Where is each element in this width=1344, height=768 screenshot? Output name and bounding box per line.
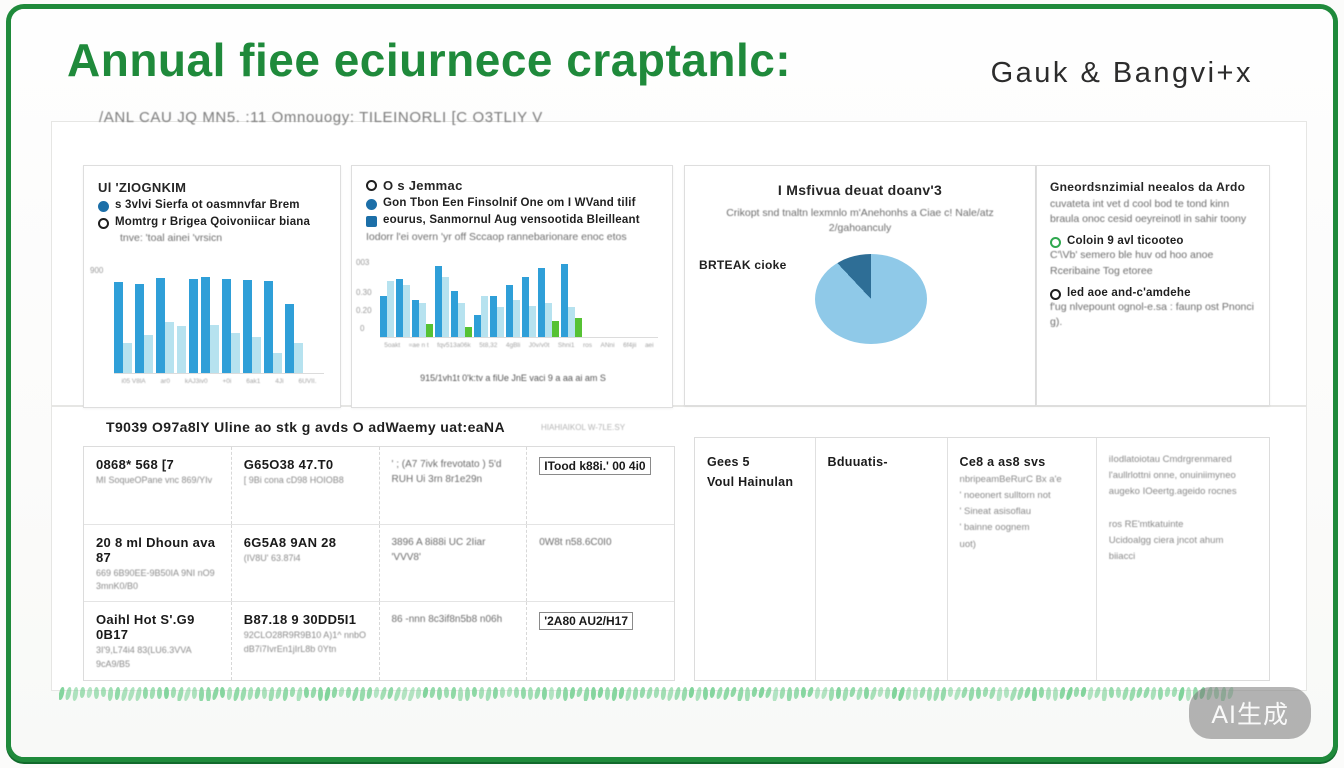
bar (474, 315, 481, 338)
bar-group (380, 262, 394, 337)
deco-mark (1093, 687, 1101, 698)
bar-group (189, 274, 198, 373)
cell-secondary-text: [ 9Bi cona cD98 HOIOB8 (244, 474, 367, 488)
cell-secondary-text: 669 6B90EE-9B50IA 9NI nO9 3mnK0/B0 (96, 567, 219, 594)
table-row: Oaihl Hot S'.G9 0B173I'9,L74i4 83(LU6.3V… (84, 602, 674, 680)
card-b-title-row: O s Jemmac (366, 178, 658, 193)
bar-group (243, 274, 261, 373)
deco-mark (422, 687, 429, 698)
deco-mark (101, 687, 107, 697)
bar (273, 353, 282, 373)
bar (435, 266, 442, 337)
table-cell: 3896 A 8i88i UC 2Iiar 'VVV8' (380, 525, 528, 602)
deco-mark (274, 687, 282, 699)
deco-mark (134, 687, 142, 701)
card-a-bullet-2-label: Momtrg r Brigea Qoivoniicar biana (115, 216, 310, 228)
x-tick-label: 4Ji (275, 378, 283, 385)
bar (156, 278, 165, 373)
deco-mark (331, 687, 338, 698)
card-d-bullet-1-body: C'\Vb' semero ble huv od hoo anoe Rcerib… (1050, 248, 1256, 278)
card-a-note: tnve: 'toal ainei 'vrsicn (120, 231, 326, 246)
bar (412, 300, 419, 338)
bar-group (490, 262, 504, 337)
cell-primary-value: B87.18 9 30DD5I1 (244, 612, 367, 627)
deco-mark (947, 687, 953, 697)
bar-group (522, 262, 536, 337)
bar (380, 296, 387, 337)
decorative-strip (59, 687, 1291, 701)
ai-watermark-badge: AI生成 (1189, 687, 1311, 739)
bar (490, 296, 497, 337)
deco-mark (79, 687, 86, 698)
chart2-ytick-2: 0.20 (356, 306, 372, 315)
card-pie-chart: I Msfivua deuat doanv'3 Crikopt snd tnal… (684, 165, 1036, 406)
x-tick-label: +0i (223, 378, 232, 385)
bar (552, 321, 559, 338)
bar (189, 279, 198, 373)
bar (513, 300, 520, 338)
deco-mark (373, 687, 380, 698)
card-b-bullet-2: eourus, Sanmornul Aug vensootida Bleille… (366, 214, 658, 227)
deco-mark (597, 687, 604, 698)
deco-mark (1045, 687, 1051, 700)
table-cell: '2A80 AU2/H17 (527, 602, 674, 680)
chart2-ytick-0: 003 (356, 258, 369, 267)
table-cell: Oaihl Hot S'.G9 0B173I'9,L74i4 83(LU6.3V… (84, 602, 232, 680)
deco-mark (338, 687, 345, 697)
bar-group (506, 262, 520, 337)
deco-mark (1116, 687, 1121, 698)
deco-mark (1053, 687, 1059, 701)
panel-column-title: Ce8 a as8 svs (960, 452, 1084, 472)
bar (522, 277, 529, 337)
panel-line: ' bainne oognem (960, 520, 1084, 536)
deco-mark (688, 687, 695, 698)
deco-mark (164, 687, 170, 699)
deco-mark (988, 687, 996, 699)
panel-line: biiacci (1109, 549, 1257, 565)
deco-mark (1150, 687, 1157, 700)
deco-mark (1101, 687, 1108, 701)
x-tick-label: 6ak1 (246, 378, 260, 385)
panel-column-title: Bduuatis- (828, 452, 935, 472)
chart2-ytick-3: 0 (360, 324, 364, 333)
deco-mark (541, 687, 547, 700)
page-subtitle: /ANL CAU JQ MN5. :11 Omnouogy: TILEINORL… (99, 109, 543, 126)
card-a-bullet-1-label: s 3vlvi Sierfa ot oasmnvfar Brem (115, 199, 300, 211)
bar (210, 325, 219, 373)
bar (222, 279, 231, 373)
card-a-title: Ul 'ZIOGNKIM (98, 180, 326, 195)
deco-mark (345, 687, 352, 698)
bar (426, 324, 433, 338)
deco-mark (1087, 687, 1095, 700)
bar (177, 326, 186, 373)
bar (568, 307, 575, 337)
deco-mark (575, 687, 583, 697)
deco-mark (828, 687, 835, 701)
bar-chart-2: 003 0.30 0.20 0 5oakt=ae n tfqv513a06k5t… (352, 258, 674, 408)
deco-mark (415, 687, 422, 699)
deco-mark (884, 687, 891, 699)
frame-inner: Annual fiee eciurnece craptanlc: Gauk & … (11, 9, 1333, 757)
square-icon (366, 216, 377, 227)
data-table: 0868* 568 [7MI SoqueOPane vnc 869/YIvG65… (83, 446, 675, 681)
deco-mark (569, 687, 576, 699)
deco-mark (618, 687, 625, 699)
deco-mark (492, 687, 498, 699)
deco-mark (437, 687, 443, 700)
deco-mark (744, 687, 750, 701)
deco-mark (472, 687, 478, 697)
x-tick-label: aei (645, 342, 654, 349)
deco-mark (528, 687, 534, 700)
deco-mark (820, 687, 828, 699)
deco-mark (1080, 687, 1087, 697)
cell-secondary-text: 3I'9,L74i4 83(LU6.3VVA 9cA9/B5 (96, 644, 219, 671)
panel-line: nbripeamBeRurC Bx a'e (960, 472, 1084, 488)
panel-line: uot) (960, 537, 1084, 553)
deco-mark (183, 687, 192, 701)
deco-mark (751, 687, 758, 697)
card-a-bullet-1: s 3vlvi Sierfa ot oasmnvfar Brem (98, 199, 326, 212)
deco-mark (611, 687, 618, 701)
bar-group (285, 274, 303, 373)
deco-mark (548, 687, 554, 700)
table-cell: ' ; (A7 7ivk frevotato ) 5'd RUH Ui 3rn … (380, 447, 528, 524)
bar-group (264, 274, 282, 373)
card-d-bullet-2-body: f'ug nlvepount ognol-e.sa : faunp ost Pn… (1050, 300, 1256, 330)
deco-mark (736, 687, 744, 701)
deco-mark (863, 687, 869, 699)
card-c-title: I Msfivua deuat doanv'3 (701, 182, 1019, 198)
deco-mark (772, 687, 780, 701)
pie-legend-label: BRTEAK cioke (699, 258, 787, 272)
deco-mark (1142, 687, 1151, 698)
deco-mark (940, 687, 948, 701)
table-row: 0868* 568 [7MI SoqueOPane vnc 869/YIvG65… (84, 447, 674, 525)
bar (252, 337, 261, 373)
panel-column: Ce8 a as8 svsnbripeamBeRurC Bx a'e' noeo… (948, 438, 1097, 680)
green-frame: Annual fiee eciurnece craptanlc: Gauk & … (6, 4, 1338, 762)
deco-mark (521, 687, 527, 699)
panel-column-title: Gees 5 Voul Hainulan (707, 452, 803, 492)
bar (396, 279, 403, 338)
x-tick-label: ANni (601, 342, 615, 349)
deco-mark (877, 687, 884, 697)
deco-mark (681, 687, 688, 701)
table-cell: B87.18 9 30DD5I192CLO28R9R9B10 A)1^ nnbO… (232, 602, 380, 680)
circle-icon (1050, 237, 1061, 248)
table-row: 20 8 ml Dhoun ava 87669 6B90EE-9B50IA 9N… (84, 525, 674, 603)
bar (285, 304, 294, 373)
cell-primary-value: Oaihl Hot S'.G9 0B17 (96, 612, 219, 642)
bar (497, 307, 504, 337)
table-cell: 6G5A8 9AN 28(IV8U' 63.87i4 (232, 525, 380, 602)
deco-mark (1164, 687, 1171, 697)
deco-mark (254, 687, 262, 699)
bar (442, 277, 449, 337)
cell-secondary-text: (IV8U' 63.87i4 (244, 552, 367, 566)
deco-mark (366, 687, 373, 699)
deco-mark (653, 687, 660, 698)
deco-mark (694, 687, 702, 701)
table-heading-right: HIAHIAIKOL W-7LE.SY (541, 423, 1323, 432)
bar (419, 303, 426, 337)
panel-line: Ucidoalgg ciera jncot ahum (1109, 533, 1257, 549)
card-d-bullet-1: Coloin 9 avl ticooteo (1050, 235, 1256, 248)
card-b-bullet-1: Gon Tbon Een Finsolnif One om I WVand ti… (366, 197, 658, 210)
deco-mark (198, 687, 204, 701)
deco-mark (1023, 687, 1031, 698)
bar-group (156, 274, 174, 373)
bar (243, 280, 252, 373)
x-tick-label: kAJ3iv0 (185, 378, 208, 385)
bar (451, 291, 458, 338)
x-tick-label: 4gBli (506, 342, 520, 349)
deco-mark (86, 687, 93, 698)
card-b-bullet-2-label: eourus, Sanmornul Aug vensootida Bleille… (383, 214, 640, 226)
deco-mark (645, 687, 653, 699)
card-b-title: O s Jemmac (383, 178, 463, 193)
panel-column: Bduuatis- (816, 438, 948, 680)
deco-mark (800, 687, 806, 698)
chart2-ytick-1: 0.30 (356, 288, 372, 297)
deco-mark (268, 687, 275, 701)
bar (231, 333, 240, 373)
deco-mark (624, 687, 632, 701)
chart1-xticks: i05 V8lAar0kAJ3iv0+0i6ak14Ji6UVII. (114, 378, 324, 385)
deco-mark (968, 687, 976, 701)
deco-mark (506, 687, 513, 697)
bar (545, 303, 552, 337)
table-cell: G65O38 47.T0[ 9Bi cona cD98 HOIOB8 (232, 447, 380, 524)
deco-mark (976, 687, 982, 699)
deco-mark (891, 687, 898, 699)
cell-secondary-text: MI SoqueOPane vnc 869/YIv (96, 474, 219, 488)
bar-group (396, 262, 410, 337)
chart1-ytick-0: 900 (90, 266, 103, 275)
boxed-value: ITood k88i.' 00 4i0 (539, 457, 650, 475)
deco-mark (806, 687, 814, 697)
x-tick-label: 5t8,32 (479, 342, 497, 349)
circle-icon (1050, 289, 1061, 300)
card-bar-chart-2: O s Jemmac Gon Tbon Een Finsolnif One om… (351, 165, 673, 408)
deco-mark (1171, 687, 1178, 697)
x-tick-label: ar0 (161, 378, 170, 385)
bar-group (114, 274, 132, 373)
deco-mark (919, 687, 927, 698)
x-tick-label: 5oakt (384, 342, 400, 349)
deco-mark (478, 687, 485, 699)
chart1-plot (114, 274, 324, 374)
bar-group (201, 274, 219, 373)
bar (123, 343, 132, 373)
bar (465, 327, 472, 338)
deco-mark (855, 687, 863, 700)
chart2-caption: 915/1vh1t 0'k:tv a fiUe JnE vaci 9 a aa … (352, 373, 674, 383)
deco-mark (1158, 687, 1164, 700)
x-tick-label: i05 V8lA (121, 378, 145, 385)
table-cell: ITood k88i.' 00 4i0 (527, 447, 674, 524)
deco-mark (639, 687, 646, 698)
card-d-title: Gneordsnzimial neealos da Ardo (1050, 180, 1256, 194)
deco-mark (1073, 687, 1080, 697)
deco-mark (240, 687, 248, 701)
deco-mark (1031, 687, 1037, 701)
deco-mark (660, 687, 667, 700)
card-notes: Gneordsnzimial neealos da Ardo cuvateta … (1036, 165, 1270, 406)
deco-mark (779, 687, 786, 699)
circle-icon (98, 218, 109, 229)
bar (506, 285, 513, 338)
deco-mark (926, 687, 932, 701)
boxed-value: '2A80 AU2/H17 (539, 612, 633, 630)
chart2-xticks: 5oakt=ae n tfqv513a06k5t8,324gBliJ0v/v0t… (380, 342, 658, 349)
cell-primary-value: 20 8 ml Dhoun ava 87 (96, 535, 219, 565)
bar (403, 285, 410, 338)
panel-line: iIodlatoiotau Cmdrgrenmared (1109, 452, 1257, 468)
deco-mark (849, 687, 857, 697)
table-cell: 86 -nnn 8c3if8n5b8 n06h (380, 602, 528, 680)
panel-column: Gees 5 Voul Hainulan (695, 438, 816, 680)
deco-mark (1004, 687, 1010, 698)
deco-mark (465, 687, 471, 701)
panel-line: ' Sineat asisoflau (960, 504, 1084, 520)
panel-line: ros RE'mtkatuinte (1109, 517, 1257, 533)
deco-mark (960, 687, 968, 698)
deco-mark (157, 687, 163, 699)
bar (294, 343, 303, 373)
deco-mark (1039, 687, 1045, 698)
card-d-bullet-1-label: Coloin 9 avl ticooteo (1067, 235, 1184, 247)
x-tick-label: fqv513a06k (437, 342, 471, 349)
cell-text: 0W8t n58.6C0I0 (539, 535, 662, 550)
filled-circle-icon (366, 199, 377, 210)
deco-mark (94, 687, 100, 699)
deco-mark (932, 687, 940, 701)
deco-mark (905, 687, 912, 700)
deco-mark (206, 687, 212, 701)
chart2-plot (380, 262, 658, 338)
deco-mark (912, 687, 918, 700)
deco-mark (143, 687, 149, 699)
bar (561, 264, 568, 337)
bar-group (412, 262, 433, 337)
deco-mark (282, 687, 289, 701)
x-tick-label: =ae n t (409, 342, 429, 349)
bar-group (222, 274, 240, 373)
bar-group (435, 262, 449, 337)
cell-secondary-text: 92CLO28R9R9B10 A)1^ nnbO dB7i7IvrEn1jIrL… (244, 629, 367, 656)
card-d-body: cuvateta int vet d cool bod te tond kinn… (1050, 197, 1256, 227)
bar (387, 281, 394, 337)
cell-text: 86 -nnn 8c3if8n5b8 n06h (392, 612, 515, 627)
deco-mark (457, 687, 463, 701)
bar-group (538, 262, 559, 337)
deco-mark (429, 687, 436, 698)
cell-text: ' ; (A7 7ivk frevotato ) 5'd RUH Ui 3rn … (392, 457, 515, 487)
cell-primary-value: 0868* 568 [7 (96, 457, 219, 472)
deco-mark (583, 687, 590, 701)
deco-mark (835, 687, 841, 699)
card-b-note: Iodorr l'ei overn 'yr off Sccaop ranneba… (366, 230, 658, 245)
bar-group (177, 274, 186, 373)
deco-mark (304, 687, 309, 698)
bar (458, 303, 465, 337)
deco-mark (591, 687, 597, 700)
table-cell: 0868* 568 [7MI SoqueOPane vnc 869/YIv (84, 447, 232, 524)
deco-mark (318, 687, 324, 701)
x-tick-label: Shni1 (558, 342, 575, 349)
x-tick-label: ros (583, 342, 592, 349)
deco-mark (107, 687, 114, 701)
panel-line: l'aullrlottni onne, onuiniimyneo (1109, 468, 1257, 484)
card-c-subtitle: Crikopt snd tnaltn lexmnlo m'Anehonhs a … (701, 206, 1019, 236)
table-heading: T9039 O97a8lY Uline ao stk g avds O adWa… (106, 419, 505, 435)
card-d-bullet-2-label: led aoe and-c'amdehe (1067, 287, 1191, 299)
bar-chart-1: 900 i05 V8lAar0kAJ3iv0+0i6ak14Ji6UVII. (84, 266, 342, 394)
deco-mark (220, 687, 225, 698)
deco-mark (170, 687, 176, 698)
pie-chart (815, 254, 927, 344)
deco-mark (729, 687, 737, 697)
deco-mark (996, 687, 1003, 701)
deco-mark (555, 687, 562, 699)
bar (114, 282, 123, 373)
deco-mark (310, 687, 317, 698)
deco-mark (632, 687, 639, 700)
bar-group (474, 262, 488, 337)
deco-mark (64, 687, 72, 700)
bar-group (561, 262, 582, 337)
bar (135, 284, 144, 373)
deco-mark (149, 687, 156, 699)
deco-mark (192, 687, 198, 699)
card-a-bullet-2: Momtrg r Brigea Qoivoniicar biana (98, 216, 326, 229)
filled-circle-icon (98, 201, 109, 212)
bar (165, 322, 174, 373)
bar (264, 281, 273, 373)
bottom-right-panel: Gees 5 Voul HainulanBduuatis-Ce8 a as8 s… (694, 437, 1270, 681)
deco-mark (359, 687, 366, 701)
deco-mark (289, 687, 296, 697)
deco-mark (793, 687, 800, 699)
deco-mark (211, 687, 220, 700)
page-title: Annual fiee eciurnece craptanlc: (67, 33, 791, 87)
card-bar-chart-1: Ul 'ZIOGNKIM s 3vlvi Sierfa ot oasmnvfar… (83, 165, 341, 408)
cell-primary-value: 6G5A8 9AN 28 (244, 535, 367, 550)
deco-mark (262, 687, 268, 699)
x-tick-label: 6f4jii (623, 342, 636, 349)
panel-line: augeko IOeertg.ageido rocnes (1109, 484, 1257, 500)
x-tick-label: J0v/v0t (529, 342, 550, 349)
deco-mark (982, 687, 989, 697)
bar (575, 318, 582, 338)
deco-mark (666, 687, 674, 701)
deco-mark (842, 687, 850, 701)
deco-mark (604, 687, 610, 700)
deco-mark (72, 687, 79, 701)
deco-mark (814, 687, 821, 699)
deco-mark (247, 687, 254, 700)
bar-group (451, 262, 472, 337)
deco-mark (764, 687, 772, 698)
x-tick-label: 6UVII. (298, 378, 316, 385)
panel-line: ' noeonert sulltorn not (960, 488, 1084, 504)
deco-mark (450, 687, 457, 699)
deco-mark (485, 687, 493, 701)
